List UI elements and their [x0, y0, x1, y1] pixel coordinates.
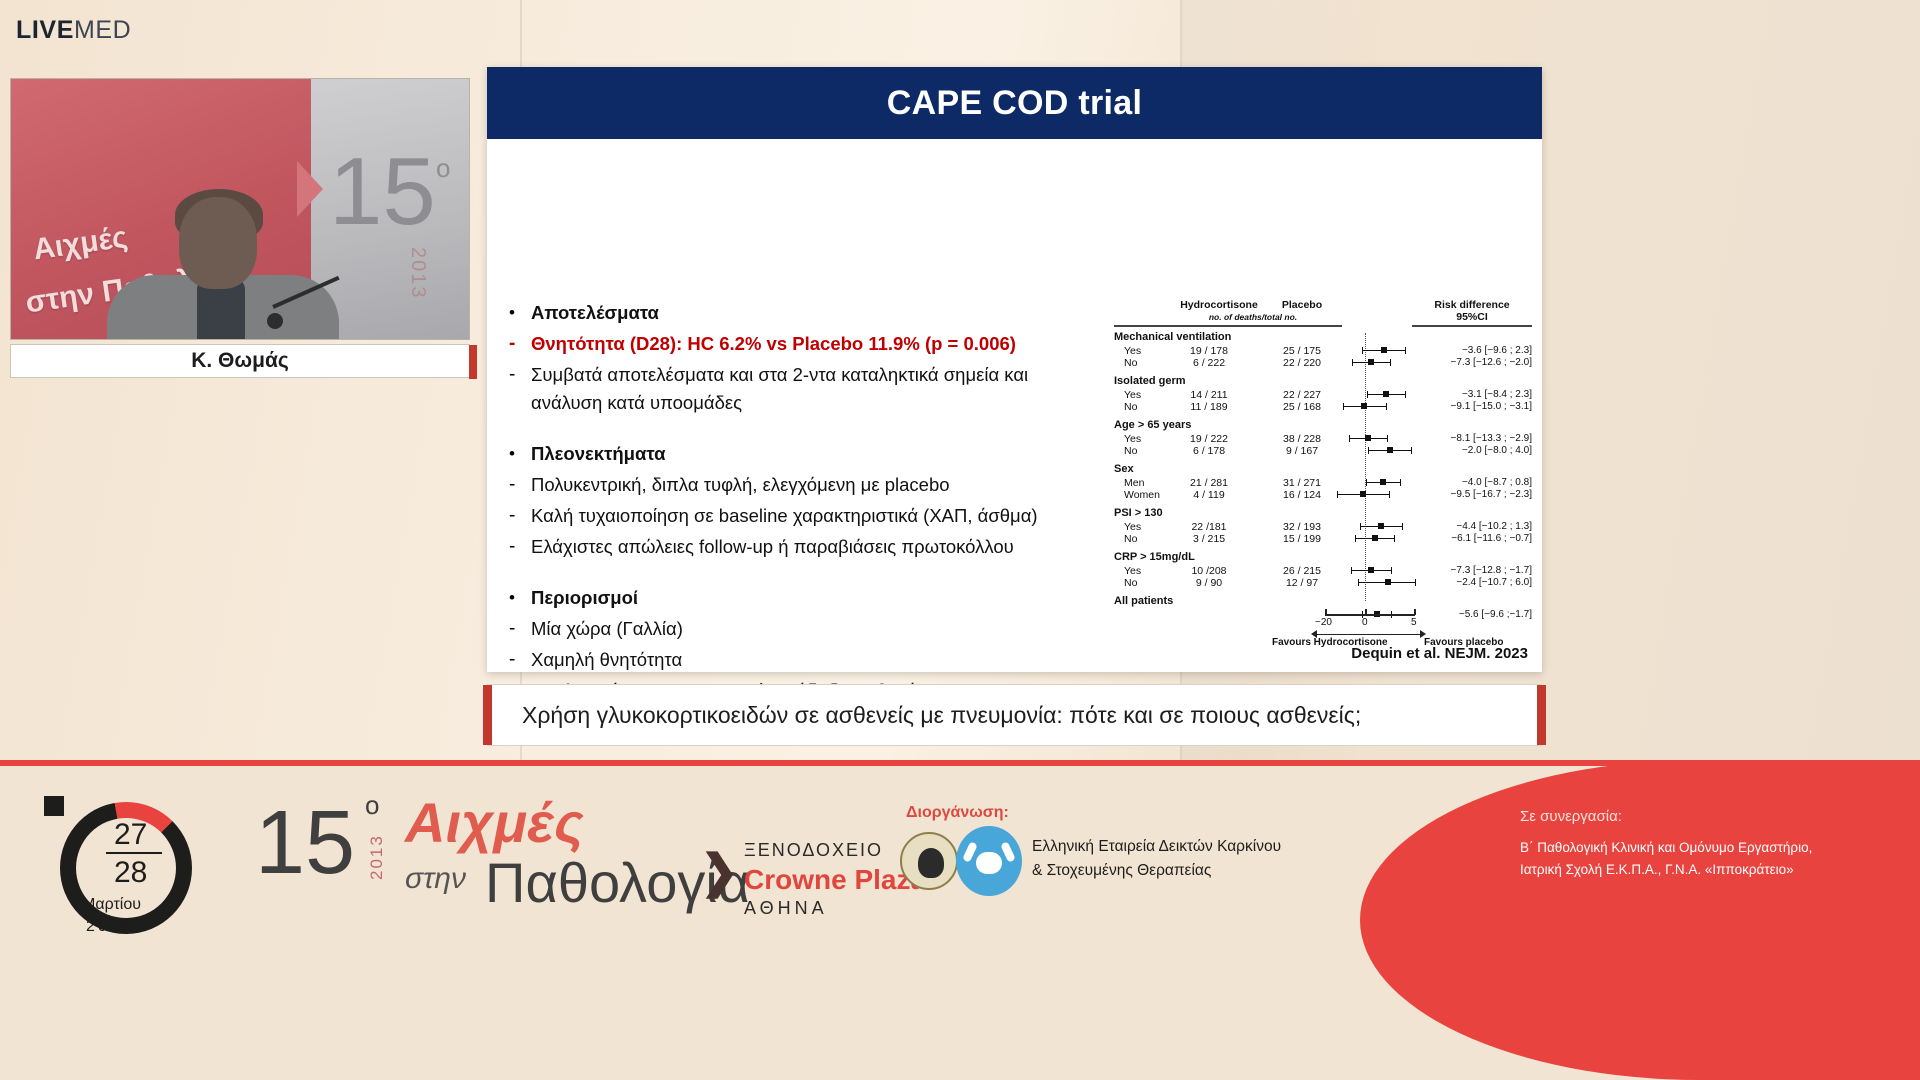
forest-ci-cap-right: [1415, 579, 1416, 586]
bullet-text: Χαμηλή θνητότητα: [531, 646, 682, 674]
forest-cell-hc: 3 / 215: [1164, 533, 1254, 545]
crab-claw-right: [1000, 841, 1016, 863]
brand-bold: LIVE: [16, 16, 74, 44]
forest-cell-hc: 10 /208: [1164, 565, 1254, 577]
bullet-text: Συμβατά αποτελέσματα και στα 2-ντα καταλ…: [531, 361, 1071, 417]
bullet-marker: •: [501, 299, 531, 327]
forest-cell-pl: 38 / 228: [1262, 433, 1342, 445]
bullet-marker: •: [501, 584, 531, 612]
forest-cell-rd: −9.5 [−16.7 ; −2.3]: [1412, 489, 1532, 500]
forest-cell-pl: 32 / 193: [1262, 521, 1342, 533]
forest-ci-cap-right: [1389, 491, 1390, 498]
forest-group-label: Mechanical ventilation: [1114, 331, 1231, 343]
forest-ci-cap-right: [1391, 567, 1392, 574]
forest-ci-cap-left: [1349, 435, 1350, 442]
forest-ci-cap-right: [1411, 447, 1412, 454]
forest-point-estimate: [1368, 567, 1374, 573]
forest-cell-label: Women: [1124, 489, 1160, 501]
forest-point-estimate: [1365, 435, 1371, 441]
forest-risk-ci-label: 95%CI: [1456, 311, 1488, 323]
bullet-spacer: [501, 564, 1071, 584]
crab-icon: [956, 826, 1022, 896]
event-year: 2026: [86, 918, 134, 936]
forest-cell-hc: 6 / 178: [1164, 445, 1254, 457]
forest-cell-pl: 25 / 168: [1262, 401, 1342, 413]
date-square-graphic: [44, 796, 64, 816]
forest-cell-rd: −3.6 [−9.6 ; 2.3]: [1412, 345, 1532, 356]
event-month: Μαρτίου: [82, 896, 141, 914]
forest-ci-cap-right: [1390, 359, 1391, 366]
forest-zero-line: [1365, 333, 1366, 601]
backdrop-edition-degree: o: [436, 153, 450, 184]
forest-point-estimate: [1385, 579, 1391, 585]
forest-cell-hc: 19 / 178: [1164, 345, 1254, 357]
forest-tick-min: [1325, 609, 1327, 615]
bullet-row: -Θνητότητα (D28): HC 6.2% vs Placebo 11.…: [501, 330, 1071, 358]
bullet-spacer: [501, 420, 1071, 440]
forest-axis-label-min: −20: [1315, 617, 1332, 628]
bullet-text: Ελάχιστες απώλειες follow-up ή παραβιάσε…: [531, 533, 1014, 561]
forest-group-label: All patients: [1114, 595, 1173, 607]
collaboration-line-2: Ιατρική Σχολή Ε.Κ.Π.Α., Γ.Ν.Α. «Ιπποκράτ…: [1520, 859, 1900, 881]
forest-cell-hc: 21 / 281: [1164, 477, 1254, 489]
bullet-row: -Συμβατά αποτελέσματα και στα 2-ντα κατα…: [501, 361, 1071, 417]
forest-cell-label: Yes: [1124, 565, 1141, 577]
event-day-2: 28: [114, 856, 147, 890]
bullet-row: -Μία χώρα (Γαλλία): [501, 615, 1071, 643]
footer-top-edge: [0, 760, 1920, 766]
forest-cell-label: Men: [1124, 477, 1144, 489]
slide-citation: Dequin et al. NEJM. 2023: [1351, 645, 1528, 662]
forest-cell-label: Yes: [1124, 389, 1141, 401]
forest-cell-pl: 22 / 220: [1262, 357, 1342, 369]
event-date-block: 27 28 Μαρτίου 2026: [28, 794, 248, 944]
event-logo-word-2: στην: [405, 862, 466, 896]
forest-point-estimate: [1380, 479, 1386, 485]
forest-ci-cap-right: [1400, 479, 1401, 486]
organizer-line-2: & Στοχευμένης Θεραπείας: [1032, 862, 1211, 880]
forest-ci-cap-right: [1394, 535, 1395, 542]
bullet-marker: •: [501, 440, 531, 468]
organizer-seal-icon: [900, 832, 958, 890]
forest-cell-pl: 31 / 271: [1262, 477, 1342, 489]
microphone-icon: [267, 313, 283, 329]
slide: CAPE COD trial •Αποτελέσματα-Θνητότητα (…: [487, 67, 1542, 672]
bullet-list: •Αποτελέσματα-Θνητότητα (D28): HC 6.2% v…: [501, 299, 1071, 708]
forest-cell-label: Yes: [1124, 345, 1141, 357]
bullet-marker: -: [501, 330, 531, 358]
event-logo-year: 2013: [367, 834, 387, 880]
bullet-row: -Χαμηλή θνητότητα: [501, 646, 1071, 674]
speaker-video[interactable]: Αιχμές στην Παθολ 15 o 2013: [10, 78, 470, 340]
hotel-line-3: ΑΘΗΝΑ: [744, 898, 828, 919]
forest-cell-label: Yes: [1124, 521, 1141, 533]
bullet-row: -Καλή τυχαιοποίηση σε baseline χαρακτηρι…: [501, 502, 1071, 530]
forest-group-label: CRP > 15mg/dL: [1114, 551, 1195, 563]
forest-point-estimate: [1360, 491, 1366, 497]
forest-cell-pl: 25 / 175: [1262, 345, 1342, 357]
bullet-text: Πλεονεκτήματα: [531, 440, 665, 468]
forest-ci-cap-left: [1366, 479, 1367, 486]
bullet-row: •Περιορισμοί: [501, 584, 1071, 612]
bullet-row: -Ελάχιστες απώλειες follow-up ή παραβιάσ…: [501, 533, 1071, 561]
forest-cell-hc: 22 /181: [1164, 521, 1254, 533]
forest-risk-label: Risk difference: [1434, 299, 1509, 311]
collaboration-line-1: Β΄ Παθολογική Κλινική και Ομόνυμο Εργαστ…: [1520, 837, 1900, 859]
forest-point-estimate: [1383, 391, 1389, 397]
bullet-text: Αποτελέσματα: [531, 299, 659, 327]
slide-title-bar: CAPE COD trial: [487, 67, 1542, 139]
bullet-marker: -: [501, 471, 531, 499]
speaker-name: Κ. Θωμάς: [191, 349, 289, 373]
forest-header-risk-difference: Risk difference 95%CI: [1412, 299, 1532, 323]
forest-ci-cap-left: [1360, 523, 1361, 530]
forest-ci-cap-left: [1337, 491, 1338, 498]
forest-header-hydrocortisone: Hydrocortisone: [1164, 299, 1274, 311]
forest-cell-label: No: [1124, 533, 1137, 545]
forest-point-estimate: [1387, 447, 1393, 453]
brand-light: MED: [74, 16, 131, 44]
chevron-right-icon: ❯: [700, 844, 739, 898]
forest-cell-hc: 19 / 222: [1164, 433, 1254, 445]
speaker-head: [179, 197, 257, 289]
forest-cell-rd: −6.1 [−11.6 ; −0.7]: [1412, 533, 1532, 544]
forest-cell-pl: 9 / 167: [1262, 445, 1342, 457]
hotel-line-2: Crowne Plaza: [744, 864, 926, 896]
footer-banner: 27 28 Μαρτίου 2026 15 o 2013 Αιχμές στην…: [0, 760, 1920, 1080]
hotel-line-1: ΞΕΝΟΔΟΧΕΙΟ: [744, 840, 883, 861]
date-divider: [106, 852, 162, 854]
forest-ci-cap-right: [1402, 523, 1403, 530]
forest-ci-cap-right: [1405, 391, 1406, 398]
bullet-row: •Πλεονεκτήματα: [501, 440, 1071, 468]
organizer-line-1: Ελληνική Εταιρεία Δεικτών Καρκίνου: [1032, 838, 1281, 856]
forest-ci-cap-left: [1358, 579, 1359, 586]
forest-group-label: PSI > 130: [1114, 507, 1163, 519]
forest-cell-label: No: [1124, 357, 1137, 369]
forest-ci-cap-left: [1343, 403, 1344, 410]
event-logo-degree: o: [365, 790, 379, 821]
bullet-text: Θνητότητα (D28): HC 6.2% vs Placebo 11.9…: [531, 330, 1016, 358]
forest-axis-label-max: 5: [1411, 617, 1417, 628]
forest-tick-max: [1414, 609, 1416, 615]
forest-cell-rd: −8.1 [−13.3 ; −2.9]: [1412, 433, 1532, 444]
bullet-marker: -: [501, 646, 531, 674]
forest-plot: Hydrocortisone Placebo no. of deaths/tot…: [1112, 299, 1532, 639]
forest-cell-pl: 16 / 124: [1262, 489, 1342, 501]
livemed-logo: LIVEMED: [16, 16, 131, 45]
bullet-marker: -: [501, 502, 531, 530]
collaboration-label: Σε συνεργασία:: [1520, 808, 1900, 825]
bullet-marker: -: [501, 361, 531, 389]
bullet-marker: -: [501, 533, 531, 561]
forest-cell-label: No: [1124, 401, 1137, 413]
event-logo: 15 o 2013 Αιχμές στην Παθολογία: [255, 784, 685, 954]
event-day-1: 27: [114, 818, 147, 852]
backdrop-triangle: [297, 161, 323, 217]
forest-cell-rd: −2.4 [−10.7 ; 6.0]: [1412, 577, 1532, 588]
forest-cell-pl: 15 / 199: [1262, 533, 1342, 545]
forest-favours-line: [1314, 634, 1424, 635]
forest-cell-label: No: [1124, 577, 1137, 589]
forest-tick-zero: [1365, 609, 1367, 615]
forest-cell-rd: −7.3 [−12.8 ; −1.7]: [1412, 565, 1532, 576]
collaboration-block: Σε συνεργασία: Β΄ Παθολογική Κλινική και…: [1520, 808, 1900, 881]
forest-cell-rd: −3.1 [−8.4 ; 2.3]: [1412, 389, 1532, 400]
forest-rule-left: [1114, 325, 1342, 327]
forest-cell-label: Yes: [1124, 433, 1141, 445]
forest-rule-right: [1412, 325, 1532, 327]
forest-cell-hc: 6 / 222: [1164, 357, 1254, 369]
organizer-block: Διοργάνωση: Ελληνική Εταιρεία Δεικτών Κα…: [900, 804, 1320, 934]
forest-cell-label: No: [1124, 445, 1137, 457]
forest-group-label: Sex: [1114, 463, 1134, 475]
bullet-row: •Αποτελέσματα: [501, 299, 1071, 327]
forest-ci-cap-right: [1405, 347, 1406, 354]
forest-cell-pl: 26 / 215: [1262, 565, 1342, 577]
forest-ci-cap-left: [1368, 447, 1369, 454]
forest-point-estimate: [1372, 535, 1378, 541]
forest-ci-cap-left: [1355, 535, 1356, 542]
bullet-text: Περιορισμοί: [531, 584, 638, 612]
backdrop-year: 2013: [406, 247, 429, 300]
bullet-text: Πολυκεντρική, διπλα τυφλή, ελεγχόμενη με…: [531, 471, 950, 499]
forest-header-subtitle: no. of deaths/total no.: [1164, 312, 1342, 322]
forest-cell-rd: −2.0 [−8.0 ; 4.0]: [1412, 445, 1532, 456]
backdrop-edition-number: 15: [329, 149, 436, 235]
slide-title: CAPE COD trial: [887, 84, 1142, 123]
forest-ci-cap-left: [1362, 347, 1363, 354]
forest-group-label: Isolated germ: [1114, 375, 1186, 387]
forest-point-estimate: [1361, 403, 1367, 409]
slide-body: •Αποτελέσματα-Θνητότητα (D28): HC 6.2% v…: [487, 139, 1542, 672]
forest-cell-hc: 11 / 189: [1164, 401, 1254, 413]
speaker-panel: Αιχμές στην Παθολ 15 o 2013 Κ. Θωμάς: [10, 78, 470, 378]
bullet-marker: -: [501, 615, 531, 643]
event-logo-number: 15: [255, 792, 355, 895]
forest-cell-rd: −9.1 [−15.0 ; −3.1]: [1412, 401, 1532, 412]
talk-title-strip: Χρήση γλυκοκορτικοειδών σε ασθενείς με π…: [487, 684, 1542, 746]
crab-body: [976, 852, 1002, 874]
forest-cell-hc: 4 / 119: [1164, 489, 1254, 501]
forest-ci-cap-left: [1351, 567, 1352, 574]
bullet-row: -Πολυκεντρική, διπλα τυφλή, ελεγχόμενη μ…: [501, 471, 1071, 499]
forest-cell-rd: −4.0 [−8.7 ; 0.8]: [1412, 477, 1532, 488]
event-logo-word-1: Αιχμές: [405, 790, 584, 855]
forest-cell-rd: −7.3 [−12.6 ; −2.0]: [1412, 357, 1532, 368]
forest-point-estimate: [1381, 347, 1387, 353]
speaker-nameplate: Κ. Θωμάς: [10, 344, 470, 378]
forest-ci-cap-left: [1352, 359, 1353, 366]
forest-cell-hc: 14 / 211: [1164, 389, 1254, 401]
forest-header-placebo: Placebo: [1262, 299, 1342, 311]
forest-axis-label-zero: 0: [1362, 617, 1368, 628]
forest-point-estimate: [1378, 523, 1384, 529]
forest-axis: [1325, 614, 1415, 616]
forest-cell-rd: −5.6 [−9.6 ;−1.7]: [1412, 609, 1532, 620]
organizer-label: Διοργάνωση:: [906, 804, 1009, 822]
forest-cell-hc: 9 / 90: [1164, 577, 1254, 589]
forest-group-label: Age > 65 years: [1114, 419, 1191, 431]
bullet-text: Μία χώρα (Γαλλία): [531, 615, 683, 643]
forest-cell-pl: 22 / 227: [1262, 389, 1342, 401]
forest-point-estimate: [1368, 359, 1374, 365]
forest-cell-pl: 12 / 97: [1262, 577, 1342, 589]
talk-title: Χρήση γλυκοκορτικοειδών σε ασθενείς με π…: [488, 702, 1361, 729]
organizer-seal-portrait: [918, 848, 944, 878]
forest-ci-cap-right: [1386, 403, 1387, 410]
forest-ci-cap-left: [1367, 391, 1368, 398]
forest-ci-cap-right: [1387, 435, 1388, 442]
forest-cell-rd: −4.4 [−10.2 ; 1.3]: [1412, 521, 1532, 532]
bullet-text: Καλή τυχαιοποίηση σε baseline χαρακτηρισ…: [531, 502, 1038, 530]
